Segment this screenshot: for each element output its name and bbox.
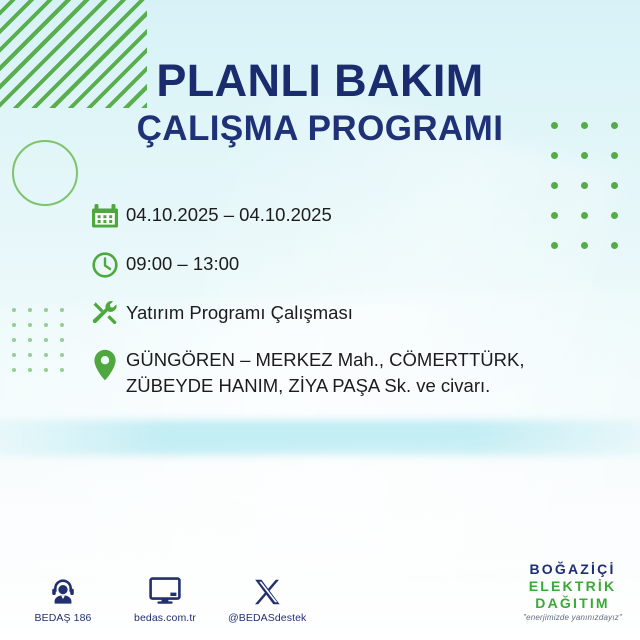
page-subtitle: ÇALIŞMA PROGRAMI (0, 109, 640, 149)
logo-line-elektrik: ELEKTRİK (523, 579, 622, 593)
planned-maintenance-poster: PLANLI BAKIM ÇALIŞMA PROGRAMI 04.10.2025… (0, 0, 640, 640)
detail-row-location: GÜNGÖREN – MERKEZ Mah., CÖMERTTÜRK, ZÜBE… (84, 345, 584, 401)
dot-grid-left-decoration (12, 308, 76, 383)
poster-footer: BEDAŞ 186 bedas.com.tr (0, 558, 640, 624)
detail-row-date: 04.10.2025 – 04.10.2025 (84, 198, 584, 234)
logo-line-bogazici: BOĞAZİÇİ (523, 562, 622, 576)
page-title: PLANLI BAKIM (0, 56, 640, 106)
clock-icon (84, 247, 126, 283)
detail-value-date: 04.10.2025 – 04.10.2025 (126, 198, 332, 228)
contact-social-x[interactable]: @BEDASdestek (228, 570, 306, 624)
background-wave-band (0, 420, 640, 456)
company-logo: BOĞAZİÇİ ELEKTRİK DAĞITIM "enerjimizde y… (523, 562, 622, 622)
location-pin-icon (84, 345, 126, 401)
detail-value-work-type: Yatırım Programı Çalışması (126, 296, 353, 326)
calendar-icon (84, 198, 126, 234)
location-line-1: GÜNGÖREN – MERKEZ Mah., CÖMERTTÜRK, (126, 349, 524, 370)
logo-line-dagitim: DAĞITIM (523, 596, 622, 610)
logo-tagline: "enerjimizde yanınızdayız" (523, 614, 622, 622)
location-line-2: ZÜBEYDE HANIM, ZİYA PAŞA Sk. ve civarı. (126, 375, 490, 396)
detail-value-time: 09:00 – 13:00 (126, 247, 239, 277)
contact-phone[interactable]: BEDAŞ 186 (24, 570, 102, 624)
maintenance-details-list: 04.10.2025 – 04.10.2025 09:00 – 13:00 (84, 198, 584, 401)
contact-channels: BEDAŞ 186 bedas.com.tr (24, 570, 306, 624)
contact-social-label: @BEDASdestek (228, 612, 306, 624)
contact-phone-label: BEDAŞ 186 (24, 612, 102, 624)
contact-website-label: bedas.com.tr (126, 612, 204, 624)
circle-outline-decoration (12, 140, 78, 206)
detail-value-location: GÜNGÖREN – MERKEZ Mah., CÖMERTTÜRK, ZÜBE… (126, 345, 524, 399)
contact-website[interactable]: bedas.com.tr (126, 570, 204, 624)
headset-support-icon (24, 570, 102, 606)
detail-row-time: 09:00 – 13:00 (84, 247, 584, 283)
tools-icon (84, 296, 126, 332)
monitor-website-icon (126, 570, 204, 606)
detail-row-work-type: Yatırım Programı Çalışması (84, 296, 584, 332)
poster-heading: PLANLI BAKIM ÇALIŞMA PROGRAMI (0, 56, 640, 149)
x-social-icon (228, 570, 306, 606)
